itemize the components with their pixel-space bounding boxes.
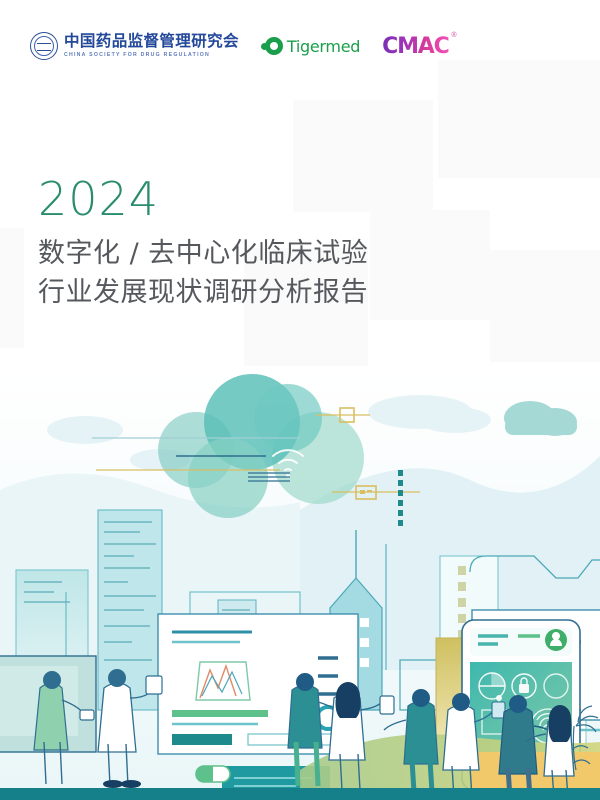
logo-cmac: CMAC ® bbox=[382, 34, 448, 59]
dashboard-panel bbox=[158, 614, 358, 754]
title-block: 2024 数字化 / 去中心化临床试验 行业发展现状调研分析报告 bbox=[38, 176, 368, 313]
watermark-block bbox=[0, 228, 24, 348]
watermark-block bbox=[370, 210, 490, 320]
seal-icon bbox=[30, 32, 58, 60]
report-title-line-2: 行业发展现状调研分析报告 bbox=[38, 273, 368, 312]
ground-strip bbox=[0, 788, 600, 800]
csdr-chinese-name: 中国药品监督管理研究会 bbox=[64, 34, 239, 50]
registered-mark-icon: ® bbox=[451, 32, 456, 39]
capsule-icon bbox=[196, 766, 230, 782]
smart-city-clinical-trial-illustration bbox=[0, 370, 600, 800]
cmac-wordmark: CMAC bbox=[382, 34, 448, 59]
logo-tigermed: Tigermed bbox=[261, 37, 360, 56]
avatar bbox=[545, 629, 567, 651]
tigermed-wordmark: Tigermed bbox=[287, 37, 360, 56]
report-year: 2024 bbox=[38, 176, 368, 222]
logo-bar: 中国药品监督管理研究会 CHINA SOCIETY FOR DRUG REGUL… bbox=[30, 26, 449, 66]
csdr-english-name: CHINA SOCIETY FOR DRUG REGULATION bbox=[64, 53, 239, 58]
watermark-block bbox=[438, 60, 600, 178]
report-title-line-1: 数字化 / 去中心化临床试验 bbox=[38, 234, 368, 273]
report-cover-page: 中国药品监督管理研究会 CHINA SOCIETY FOR DRUG REGUL… bbox=[0, 0, 600, 800]
tigermed-mark-icon bbox=[261, 37, 283, 55]
logo-china-society-for-drug-regulation: 中国药品监督管理研究会 CHINA SOCIETY FOR DRUG REGUL… bbox=[30, 32, 239, 60]
watermark-block bbox=[490, 250, 600, 362]
